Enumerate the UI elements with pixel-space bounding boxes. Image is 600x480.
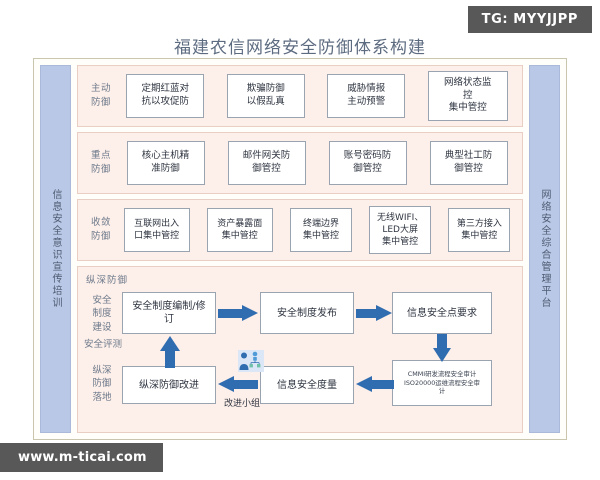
cell-box[interactable]: 网络状态监 控 集中管控 [428,71,508,121]
arrow-down-icon [433,334,451,362]
flow-box-security-requirements[interactable]: 信息安全点要求 [392,292,492,334]
left-rail-label: 信息安全意识宣传培训 [50,189,61,309]
cell-box[interactable]: 终端边界 集中管控 [290,208,352,252]
row-label-converge: 收敛 防御 [84,216,118,244]
page-title: 福建农信网络安全防御体系构建 [0,33,600,58]
tg-badge: TG: MYYJJPP [468,6,592,33]
label-policy-build: 安全 制度 建设 [84,294,120,334]
flow-box-policy-draft[interactable]: 安全制度编制/修 订 [122,292,216,334]
cell-box[interactable]: 典型社工防 御管控 [430,141,508,185]
center-column: 主动 防御 定期红蓝对 抗以攻促防 欺骗防御 以假乱真 威胁情报 主动预警 网络… [77,65,523,433]
label-deep-landing: 纵深 防御 落地 [84,364,120,404]
deep-defence-body: 安全 制度 建设 安全评测 纵深 防御 落地 安全制度编制/修 订 安全制度发布… [84,288,516,429]
right-rail: 网络安全综合管理平台 [529,65,560,433]
deep-defence-section: 纵深防御 安全 制度 建设 安全评测 纵深 防御 落地 安全制度编制/修 订 安… [77,266,523,433]
cell-box[interactable]: 定期红蓝对 抗以攻促防 [126,74,204,118]
defence-row-key: 重点 防御 核心主机精 准防御 邮件网关防 御管控 账号密码防 御管控 典型社工… [77,132,523,194]
flow-box-process-audit[interactable]: CMMI研发流程安全审计 ISO20000运维流程安全审 计 [392,360,492,406]
left-rail: 信息安全意识宣传培训 [40,65,71,433]
flow-box-policy-publish[interactable]: 安全制度发布 [260,292,354,334]
cell-box[interactable]: 互联网出入 口集中管控 [124,208,190,252]
watermark: www.m-ticai.com [0,443,163,472]
diagram-frame: 信息安全意识宣传培训 主动 防御 定期红蓝对 抗以攻促防 欺骗防御 以假乱真 威… [33,58,567,440]
cell-box[interactable]: 核心主机精 准防御 [127,141,205,185]
cell-box[interactable]: 账号密码防 御管控 [329,141,407,185]
row-label-key: 重点 防御 [84,149,118,177]
row-items-active: 定期红蓝对 抗以攻促防 欺骗防御 以假乱真 威胁情报 主动预警 网络状态监 控 … [118,71,516,121]
label-security-assess: 安全评测 [82,338,124,351]
team-org-icon [238,350,264,372]
flow-box-security-measure[interactable]: 信息安全度量 [260,366,354,404]
row-label-active: 主动 防御 [84,82,118,110]
cell-box[interactable]: 威胁情报 主动预警 [327,74,405,118]
right-rail-label: 网络安全综合管理平台 [539,189,550,309]
flow-box-deep-improve[interactable]: 纵深防御改进 [122,366,216,404]
arrow-right-icon [218,305,258,321]
cell-box[interactable]: 无线WIFI、 LED大屏 集中管控 [369,206,431,254]
team-caption: 改进小组 [224,396,260,409]
arrow-up-icon [160,336,180,366]
arrow-left-icon [356,376,394,392]
row-items-converge: 互联网出入 口集中管控 资产暴露面 集中管控 终端边界 集中管控 无线WIFI、… [118,206,516,254]
arrow-right-icon [356,305,392,321]
defence-row-converge: 收敛 防御 互联网出入 口集中管控 资产暴露面 集中管控 终端边界 集中管控 无… [77,199,523,261]
deep-defence-title: 纵深防御 [86,272,516,286]
cell-box[interactable]: 欺骗防御 以假乱真 [227,74,305,118]
cell-box[interactable]: 邮件网关防 御管控 [228,141,306,185]
defence-row-active: 主动 防御 定期红蓝对 抗以攻促防 欺骗防御 以假乱真 威胁情报 主动预警 网络… [77,65,523,127]
cell-box[interactable]: 第三方接入 集中管控 [448,208,510,252]
flow-area: 安全制度编制/修 订 安全制度发布 信息安全点要求 CMMI研发流程安全审计 I… [120,288,516,429]
row-items-key: 核心主机精 准防御 邮件网关防 御管控 账号密码防 御管控 典型社工防 御管控 [118,141,516,185]
deep-defence-labels: 安全 制度 建设 安全评测 纵深 防御 落地 [84,288,120,429]
arrow-left-icon [218,376,258,392]
cell-box[interactable]: 资产暴露面 集中管控 [207,208,273,252]
